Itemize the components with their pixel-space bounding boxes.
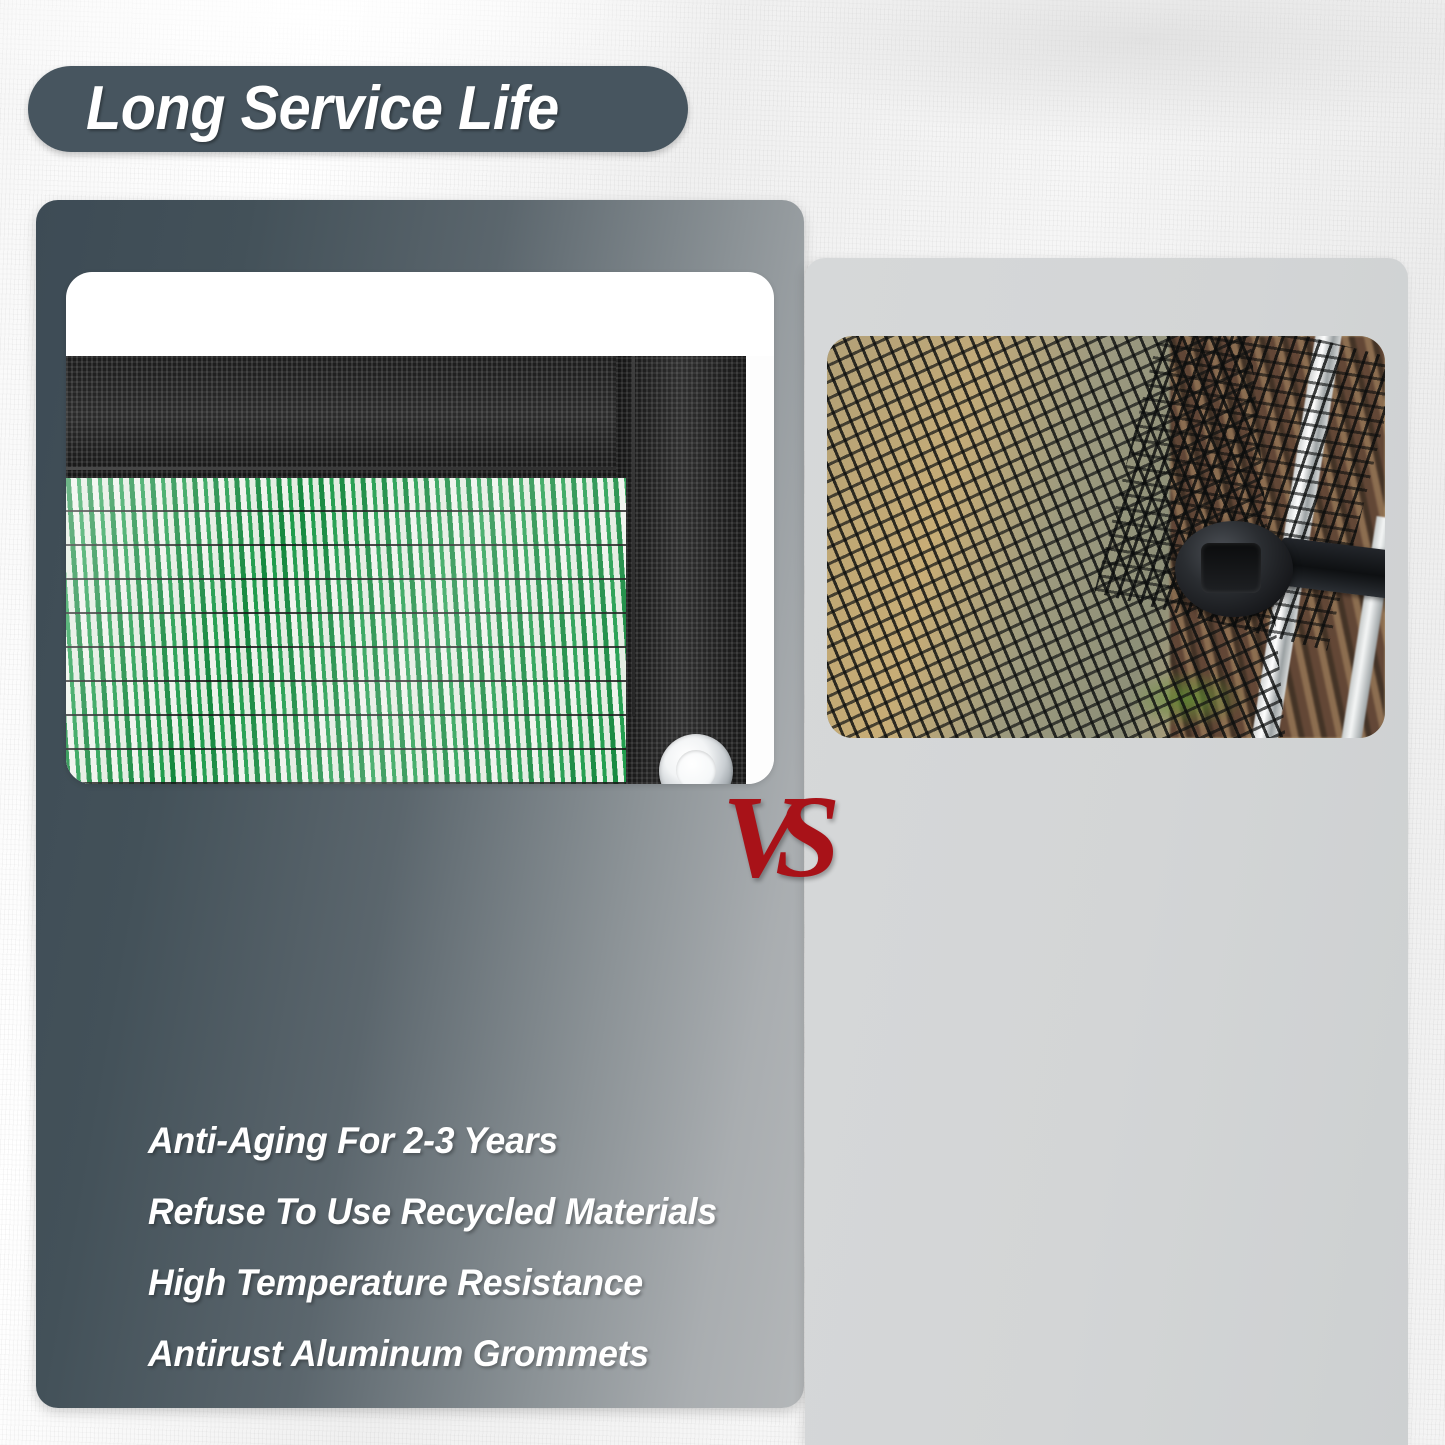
black-binding-tape-right-icon xyxy=(616,356,746,784)
shade-cloth-closeup xyxy=(66,356,774,784)
list-item: Refuse To Use Recycled Materials xyxy=(148,1193,801,1230)
mesh-gloss-sheen xyxy=(66,478,626,784)
page-title: Long Service Life xyxy=(86,78,559,140)
list-item: Antirust Aluminum Grommets xyxy=(148,1335,801,1372)
right-product-photo xyxy=(827,336,1385,738)
infographic-canvas: Long Service Life Anti-Aging For 2-3 Yea… xyxy=(0,0,1445,1445)
list-item: High Temperature Resistance xyxy=(148,1264,801,1301)
left-product-photo xyxy=(66,272,774,784)
left-feature-list: Anti-Aging For 2-3 Years Refuse To Use R… xyxy=(148,1122,804,1408)
list-item: Double Needle Binding Onfour Sides xyxy=(148,1406,801,1408)
list-item: Anti-Aging For 2-3 Years xyxy=(148,1122,801,1159)
versus-badge: VS xyxy=(722,778,872,896)
right-comparison-panel: Use 2-3 Months Use recycled materials Hi… xyxy=(805,258,1408,1445)
title-banner: Long Service Life xyxy=(28,66,688,152)
green-mesh-fabric xyxy=(66,478,626,784)
plastic-buckle-icon xyxy=(1175,521,1293,617)
left-comparison-panel: Anti-Aging For 2-3 Years Refuse To Use R… xyxy=(36,200,804,1408)
